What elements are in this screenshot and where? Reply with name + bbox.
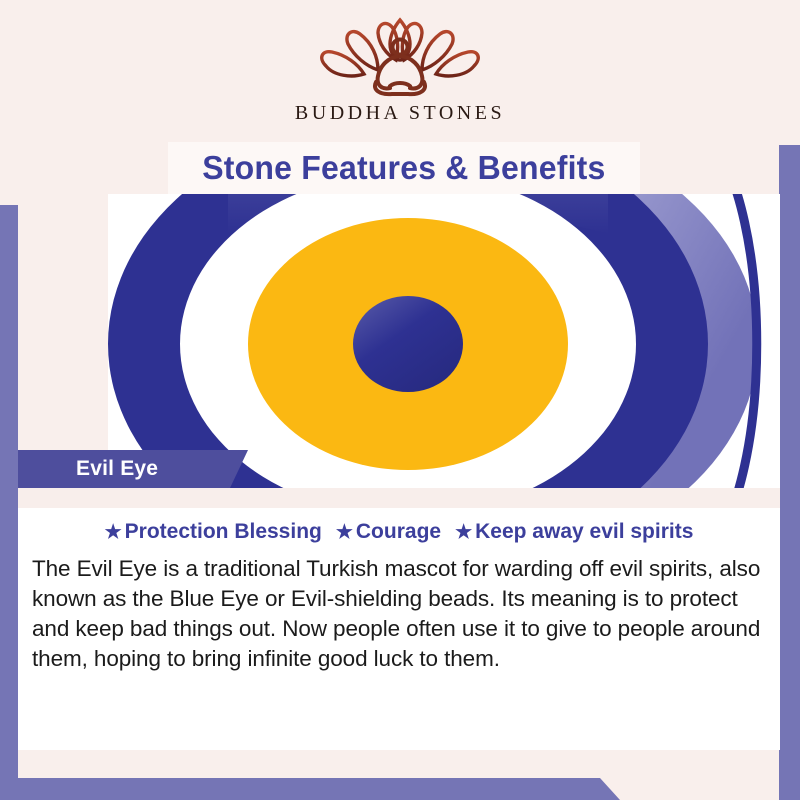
brand-header: BUDDHA STONES xyxy=(0,0,800,145)
brand-logo: BUDDHA STONES xyxy=(0,16,800,125)
page-title-text: Stone Features & Benefits xyxy=(202,149,605,187)
evil-eye-image xyxy=(108,194,780,494)
benefit-item-2: ★Keep away evil spirits xyxy=(455,520,693,544)
description-text: The Evil Eye is a traditional Turkish ma… xyxy=(32,554,776,674)
divider-strip xyxy=(18,488,780,508)
benefit-label-0: Protection Blessing xyxy=(125,520,322,543)
infographic-card: BUDDHA STONES Stone Features & Benefits xyxy=(0,0,800,800)
stone-name-label: Evil Eye xyxy=(76,457,158,481)
evil-eye-graphic xyxy=(108,194,780,494)
benefit-item-1: ★Courage xyxy=(336,520,441,544)
page-title: Stone Features & Benefits xyxy=(168,142,640,194)
benefit-label-2: Keep away evil spirits xyxy=(475,520,693,543)
benefit-item-0: ★Protection Blessing xyxy=(105,520,322,544)
frame-accent-bottom xyxy=(0,778,620,800)
benefit-label-1: Courage xyxy=(356,520,441,543)
star-icon: ★ xyxy=(455,521,472,544)
frame-accent-left xyxy=(0,205,18,785)
star-icon: ★ xyxy=(105,521,122,544)
benefits-list: ★Protection Blessing★Courage★Keep away e… xyxy=(18,520,780,544)
stone-name-banner: Evil Eye xyxy=(18,450,248,488)
lotus-meditation-icon xyxy=(310,16,490,98)
content-panel: ★Protection Blessing★Courage★Keep away e… xyxy=(18,508,780,750)
brand-name: BUDDHA STONES xyxy=(0,102,800,125)
frame-accent-bottom-left xyxy=(0,740,18,800)
star-icon: ★ xyxy=(336,521,353,544)
